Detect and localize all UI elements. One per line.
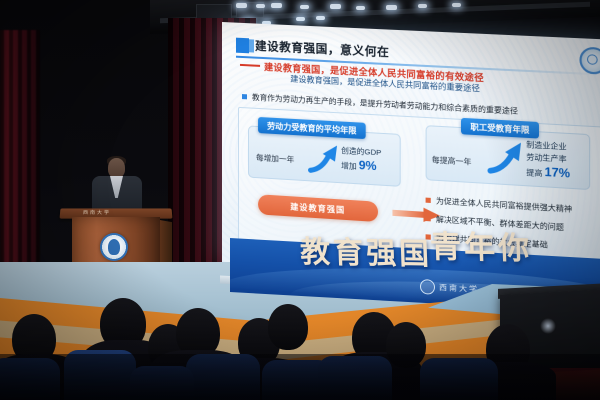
bullet-square-icon: [426, 198, 431, 203]
stat-card-right-header: 职工受教育年限: [461, 118, 539, 139]
spotlight: [256, 4, 265, 8]
spotlight: [418, 4, 427, 8]
stat-card-left: 劳动力受教育的平均年限 每增加一年 创造的GDP 增加 9%: [248, 125, 401, 186]
podium-name-text: 西南大学: [83, 209, 111, 215]
title-accent-mark: [236, 37, 249, 53]
logo-ring-icon: [420, 279, 435, 295]
spotlight: [356, 6, 365, 10]
stat-card-right-line1: 制造业企业: [526, 139, 566, 153]
stat-card-left-prefix: 增加: [341, 160, 357, 172]
spotlight: [300, 5, 309, 9]
spotlight: [316, 16, 325, 20]
spotlight: [296, 17, 305, 21]
stage-curtain-left: [0, 30, 40, 270]
stat-card-right-value: 17%: [544, 165, 570, 181]
up-arrow-icon: [486, 137, 526, 178]
spotlight: [386, 5, 397, 10]
banner-calligraphy-1: 教育强国: [299, 227, 432, 273]
spotlight: [330, 4, 341, 9]
bullet-square-icon: [242, 94, 247, 99]
stat-card-left-lead: 每增加一年: [256, 152, 294, 165]
university-seal-icon: [100, 233, 128, 261]
stat-card-right-lead: 每提高一年: [432, 154, 472, 168]
lecture-hall-photo: 建设教育强国，意义何在 建设教育强国，是促进全体人民共同富裕的有效途径 建设教育…: [0, 0, 600, 400]
spotlight: [236, 3, 247, 8]
audience-shadow: [0, 354, 600, 400]
stat-card-left-line1: 创造的GDP: [341, 145, 381, 158]
stat-card-right-prefix: 提高: [526, 167, 542, 179]
stat-card-right-line2: 劳动生产率: [526, 151, 566, 165]
spotlight: [271, 3, 282, 8]
audience-head: [268, 304, 308, 350]
audience: [0, 296, 600, 400]
banner-calligraphy-2: 青年你: [429, 221, 533, 268]
stat-card-right: 职工受教育年限 每提高一年 制造业企业 劳动生产率 提高 17%: [426, 125, 591, 190]
up-arrow-icon: [307, 139, 344, 178]
spotlight: [452, 3, 461, 7]
stat-card-left-value: 9%: [359, 158, 377, 173]
speaker-head: [108, 158, 125, 178]
